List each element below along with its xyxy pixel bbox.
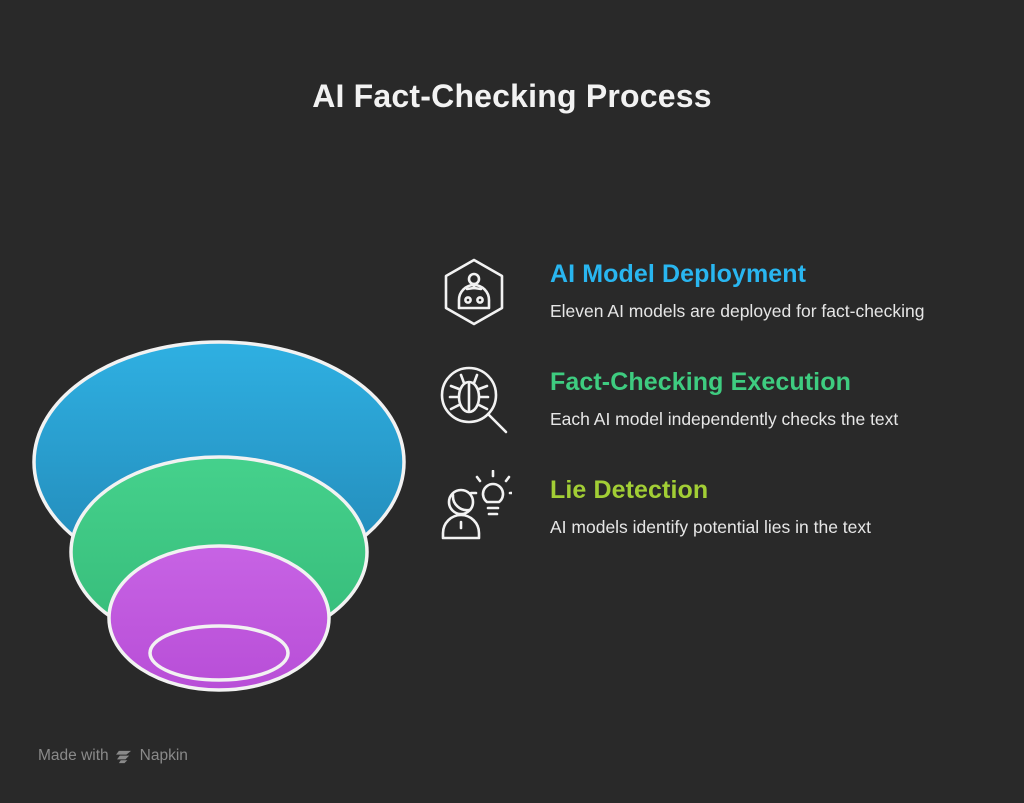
- funnel-diagram: [0, 230, 440, 700]
- step-body: Each AI model independently checks the t…: [550, 407, 970, 432]
- step-item-fact-checking-execution[interactable]: Fact-Checking Execution Each AI model in…: [436, 360, 1008, 438]
- step-heading: Lie Detection: [550, 476, 1008, 505]
- page-title: AI Fact-Checking Process: [0, 78, 1024, 115]
- step-item-lie-detection[interactable]: Lie Detection AI models identify potenti…: [436, 468, 1008, 546]
- footer-credit: Made with Napkin: [38, 747, 188, 765]
- robot-hexagon-icon: [436, 254, 512, 330]
- funnel-stage-3: [109, 546, 329, 690]
- step-item-ai-model-deployment[interactable]: AI Model Deployment Eleven AI models are…: [436, 252, 1008, 330]
- made-with-label: Made with: [38, 747, 109, 765]
- step-text-block: AI Model Deployment Eleven AI models are…: [512, 252, 1008, 324]
- step-body: Eleven AI models are deployed for fact-c…: [550, 299, 970, 324]
- step-heading: AI Model Deployment: [550, 260, 1008, 289]
- napkin-brand-label: Napkin: [140, 747, 188, 765]
- step-text-block: Lie Detection AI models identify potenti…: [512, 468, 1008, 540]
- napkin-logo-icon: [116, 749, 133, 764]
- steps-list: AI Model Deployment Eleven AI models are…: [436, 252, 1008, 574]
- step-body: AI models identify potential lies in the…: [550, 515, 1008, 540]
- step-text-block: Fact-Checking Execution Each AI model in…: [512, 360, 1008, 432]
- bug-magnifier-icon: [436, 362, 512, 438]
- step-heading: Fact-Checking Execution: [550, 368, 1008, 397]
- person-lightbulb-icon: [436, 470, 512, 546]
